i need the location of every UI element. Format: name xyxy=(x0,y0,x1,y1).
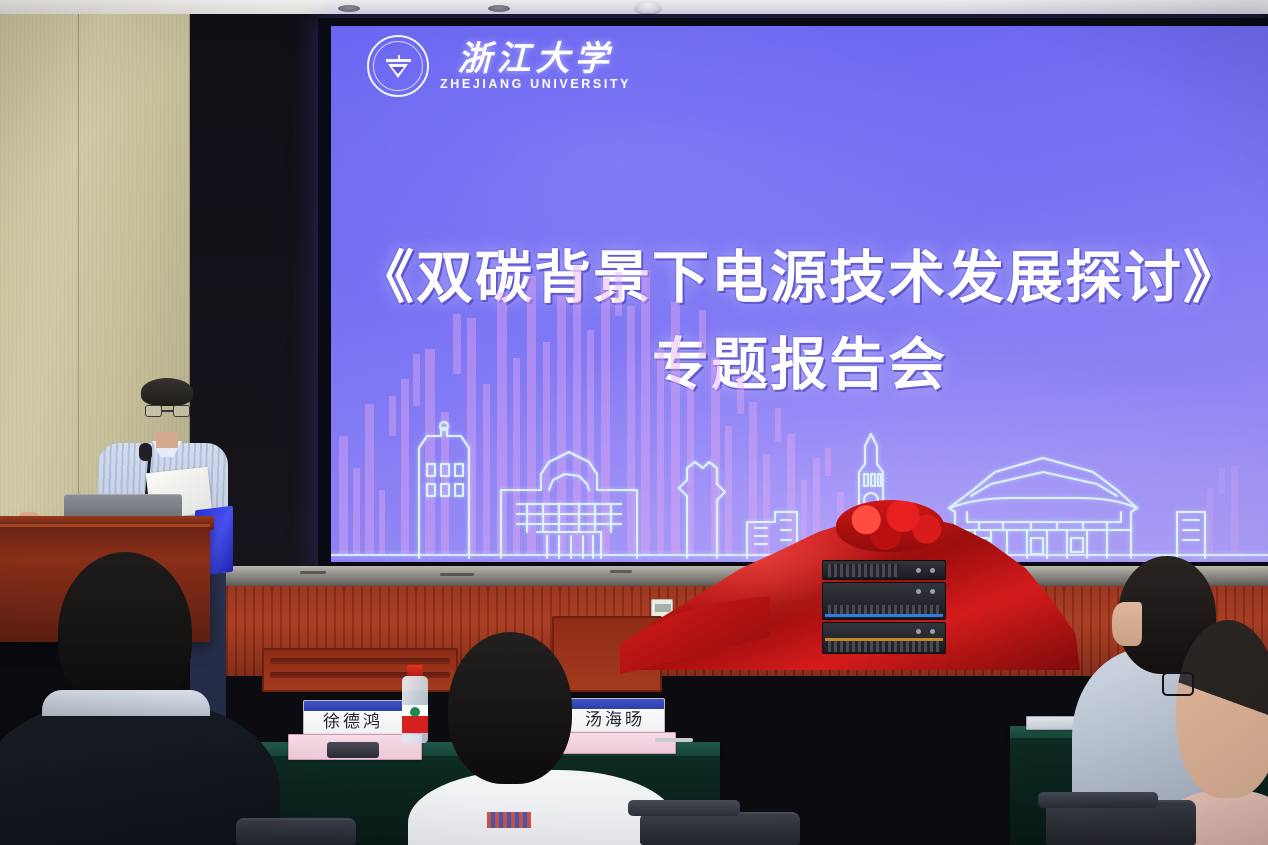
name-placard: 汤海旸 xyxy=(565,698,665,734)
university-wordmark: 浙江大学 ZHEJIANG UNIVERSITY xyxy=(440,42,631,91)
recessed-light-icon xyxy=(338,5,360,12)
bottle-label xyxy=(402,705,428,733)
attendee-head xyxy=(1176,620,1268,798)
smoke-detector-icon xyxy=(635,2,661,13)
pink-notepad xyxy=(560,732,676,754)
red-ribbon-flower-icon xyxy=(836,500,944,552)
recessed-light-icon xyxy=(488,5,510,12)
projection-screen: 浙江大学 ZHEJIANG UNIVERSITY 《双碳背景下电源技术发展探讨》… xyxy=(331,26,1268,562)
skyline-graphic xyxy=(331,262,1268,562)
audience-chair xyxy=(640,812,800,845)
gooseneck-microphone-icon xyxy=(139,443,152,461)
chair-armrest xyxy=(628,800,740,816)
conference-hall-photo: 浙江大学 ZHEJIANG UNIVERSITY 《双碳背景下电源技术发展探讨》… xyxy=(0,0,1268,845)
audience-chair xyxy=(236,818,356,845)
rack-equipment-unit xyxy=(822,582,946,620)
pen xyxy=(655,738,693,742)
water-bottle xyxy=(400,665,430,743)
skyline-buildings xyxy=(331,372,1268,562)
tshirt-graphic xyxy=(487,812,531,828)
chair-armrest xyxy=(1038,792,1158,808)
rack-equipment-unit xyxy=(822,622,946,654)
placard-name: 徐德鸿 xyxy=(323,707,383,735)
attendee-glasses-icon xyxy=(1162,672,1194,696)
rack-equipment-unit xyxy=(822,560,946,580)
speaker-glasses-icon xyxy=(145,405,190,417)
attendee-face xyxy=(1112,602,1142,646)
university-name-chinese: 浙江大学 xyxy=(458,42,614,76)
mobile-phone xyxy=(327,742,379,758)
attendee-head xyxy=(448,632,572,784)
placard-header-bar xyxy=(304,701,402,711)
name-placard: 徐德鸿 xyxy=(303,700,403,736)
placard-name: 汤海旸 xyxy=(585,705,645,733)
university-name-english: ZHEJIANG UNIVERSITY xyxy=(440,78,631,91)
placard-header-bar xyxy=(566,699,664,709)
zhejiang-university-seal-icon xyxy=(367,35,429,97)
university-logo: 浙江大学 ZHEJIANG UNIVERSITY xyxy=(367,35,631,97)
attendee-collar xyxy=(42,690,210,716)
